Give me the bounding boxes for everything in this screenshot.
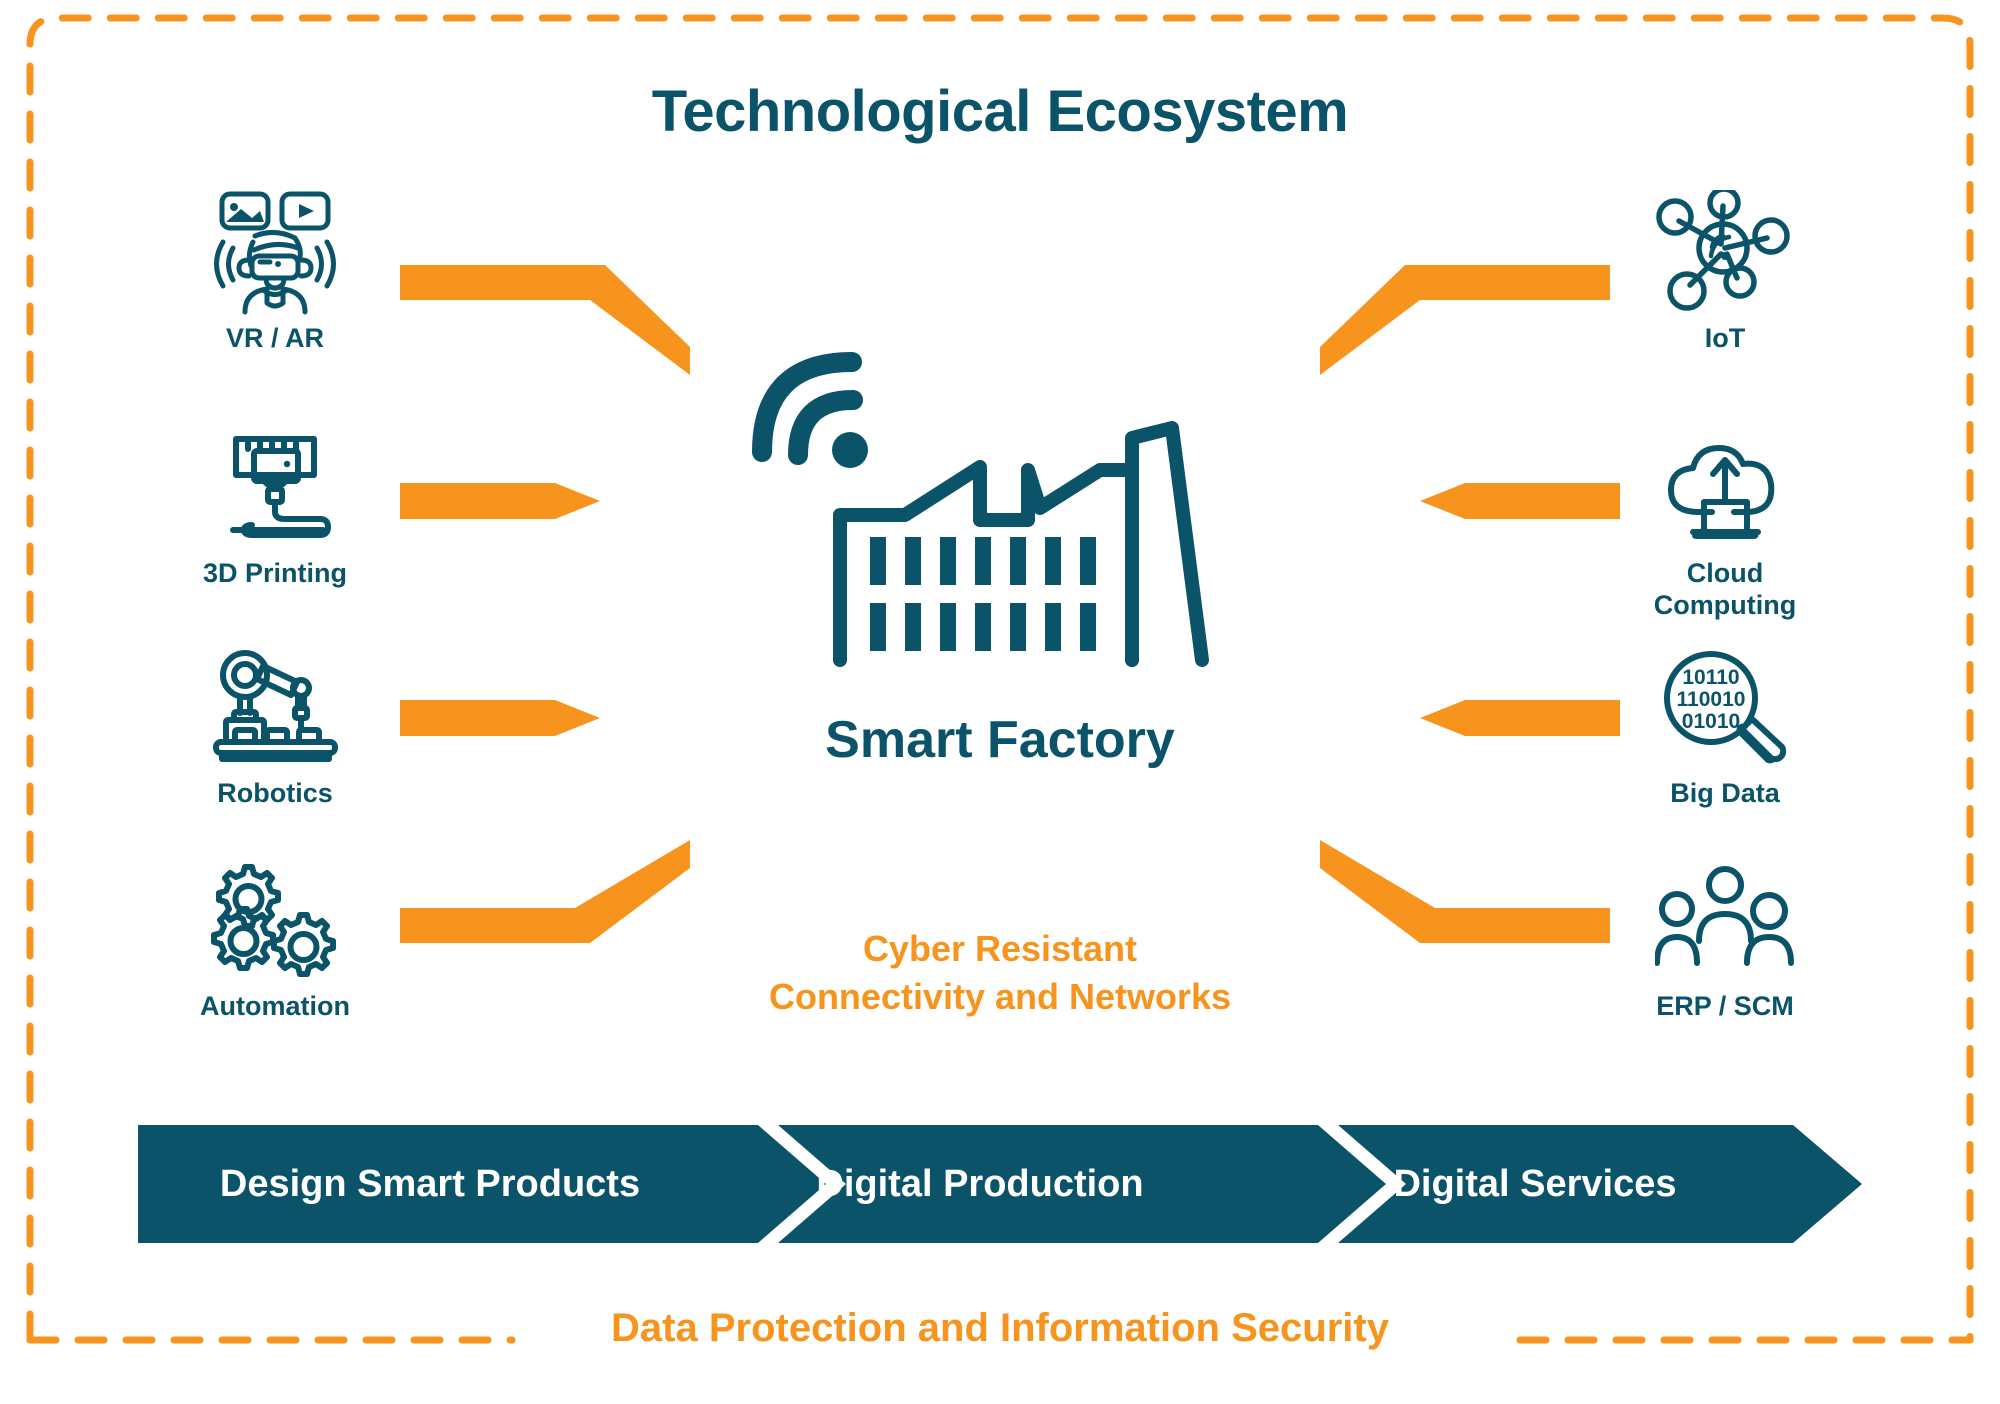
connector-left-robotics <box>400 700 600 736</box>
page-title: Technological Ecosystem <box>0 78 2000 145</box>
connector-left-vr-ar <box>400 265 690 375</box>
node-label: Automation <box>125 991 425 1023</box>
node-robotics[interactable]: Robotics <box>125 645 425 810</box>
node-automation[interactable]: Automation <box>125 858 425 1023</box>
cyber-caption-line1: Cyber Resistant <box>640 925 1360 973</box>
cyber-caption-line2: Connectivity and Networks <box>640 973 1360 1021</box>
node-label: Robotics <box>125 778 425 810</box>
node-label: ERP / SCM <box>1575 991 1875 1023</box>
footer-security-label: Data Protection and Information Security <box>0 1306 2000 1351</box>
connector-right-erp-scm <box>1320 840 1610 950</box>
node-label: Big Data <box>1575 778 1875 810</box>
svg-text:01010: 01010 <box>1681 710 1739 733</box>
vr-ar-icon <box>125 190 425 315</box>
smart-factory-label: Smart Factory <box>640 710 1360 770</box>
automation-gears-icon <box>125 858 425 983</box>
node-cloud-computing[interactable]: CloudComputing <box>1575 425 1875 622</box>
node-erp-scm[interactable]: ERP / SCM <box>1575 858 1875 1023</box>
svg-text:10110: 10110 <box>1682 666 1739 689</box>
erp-scm-people-icon <box>1575 858 1875 983</box>
node-label: VR / AR <box>125 323 425 355</box>
node-3d-printing[interactable]: 3D Printing <box>125 425 425 590</box>
infographic-canvas: Technological Ecosystem <box>0 0 2000 1404</box>
footer-security-text: Data Protection and Information Security <box>589 1306 1411 1350</box>
cyber-resistant-caption: Cyber Resistant Connectivity and Network… <box>640 925 1360 1020</box>
cloud-computing-icon <box>1575 425 1875 550</box>
node-label: CloudComputing <box>1575 558 1875 622</box>
connector-right-iot <box>1320 265 1610 375</box>
3d-printing-icon <box>125 425 425 550</box>
node-label-line1: CloudComputing <box>1654 558 1796 620</box>
smart-factory-icon <box>740 340 1260 670</box>
process-band <box>138 1125 1862 1243</box>
node-vr-ar[interactable]: VR / AR <box>125 190 425 355</box>
iot-network-icon <box>1575 190 1875 315</box>
band-segment-2 <box>778 1125 1386 1243</box>
svg-text:110010: 110010 <box>1676 688 1745 711</box>
band-segment-1 <box>138 1125 826 1243</box>
connector-left-3d-printing <box>400 483 600 519</box>
node-label: IoT <box>1575 323 1875 355</box>
node-big-data[interactable]: 10110 110010 01010 Big Data <box>1575 645 1875 810</box>
node-label: 3D Printing <box>125 558 425 590</box>
robotics-icon <box>125 645 425 770</box>
band-segment-3 <box>1338 1125 1862 1243</box>
big-data-icon: 10110 110010 01010 <box>1575 645 1875 770</box>
node-iot[interactable]: IoT <box>1575 190 1875 355</box>
